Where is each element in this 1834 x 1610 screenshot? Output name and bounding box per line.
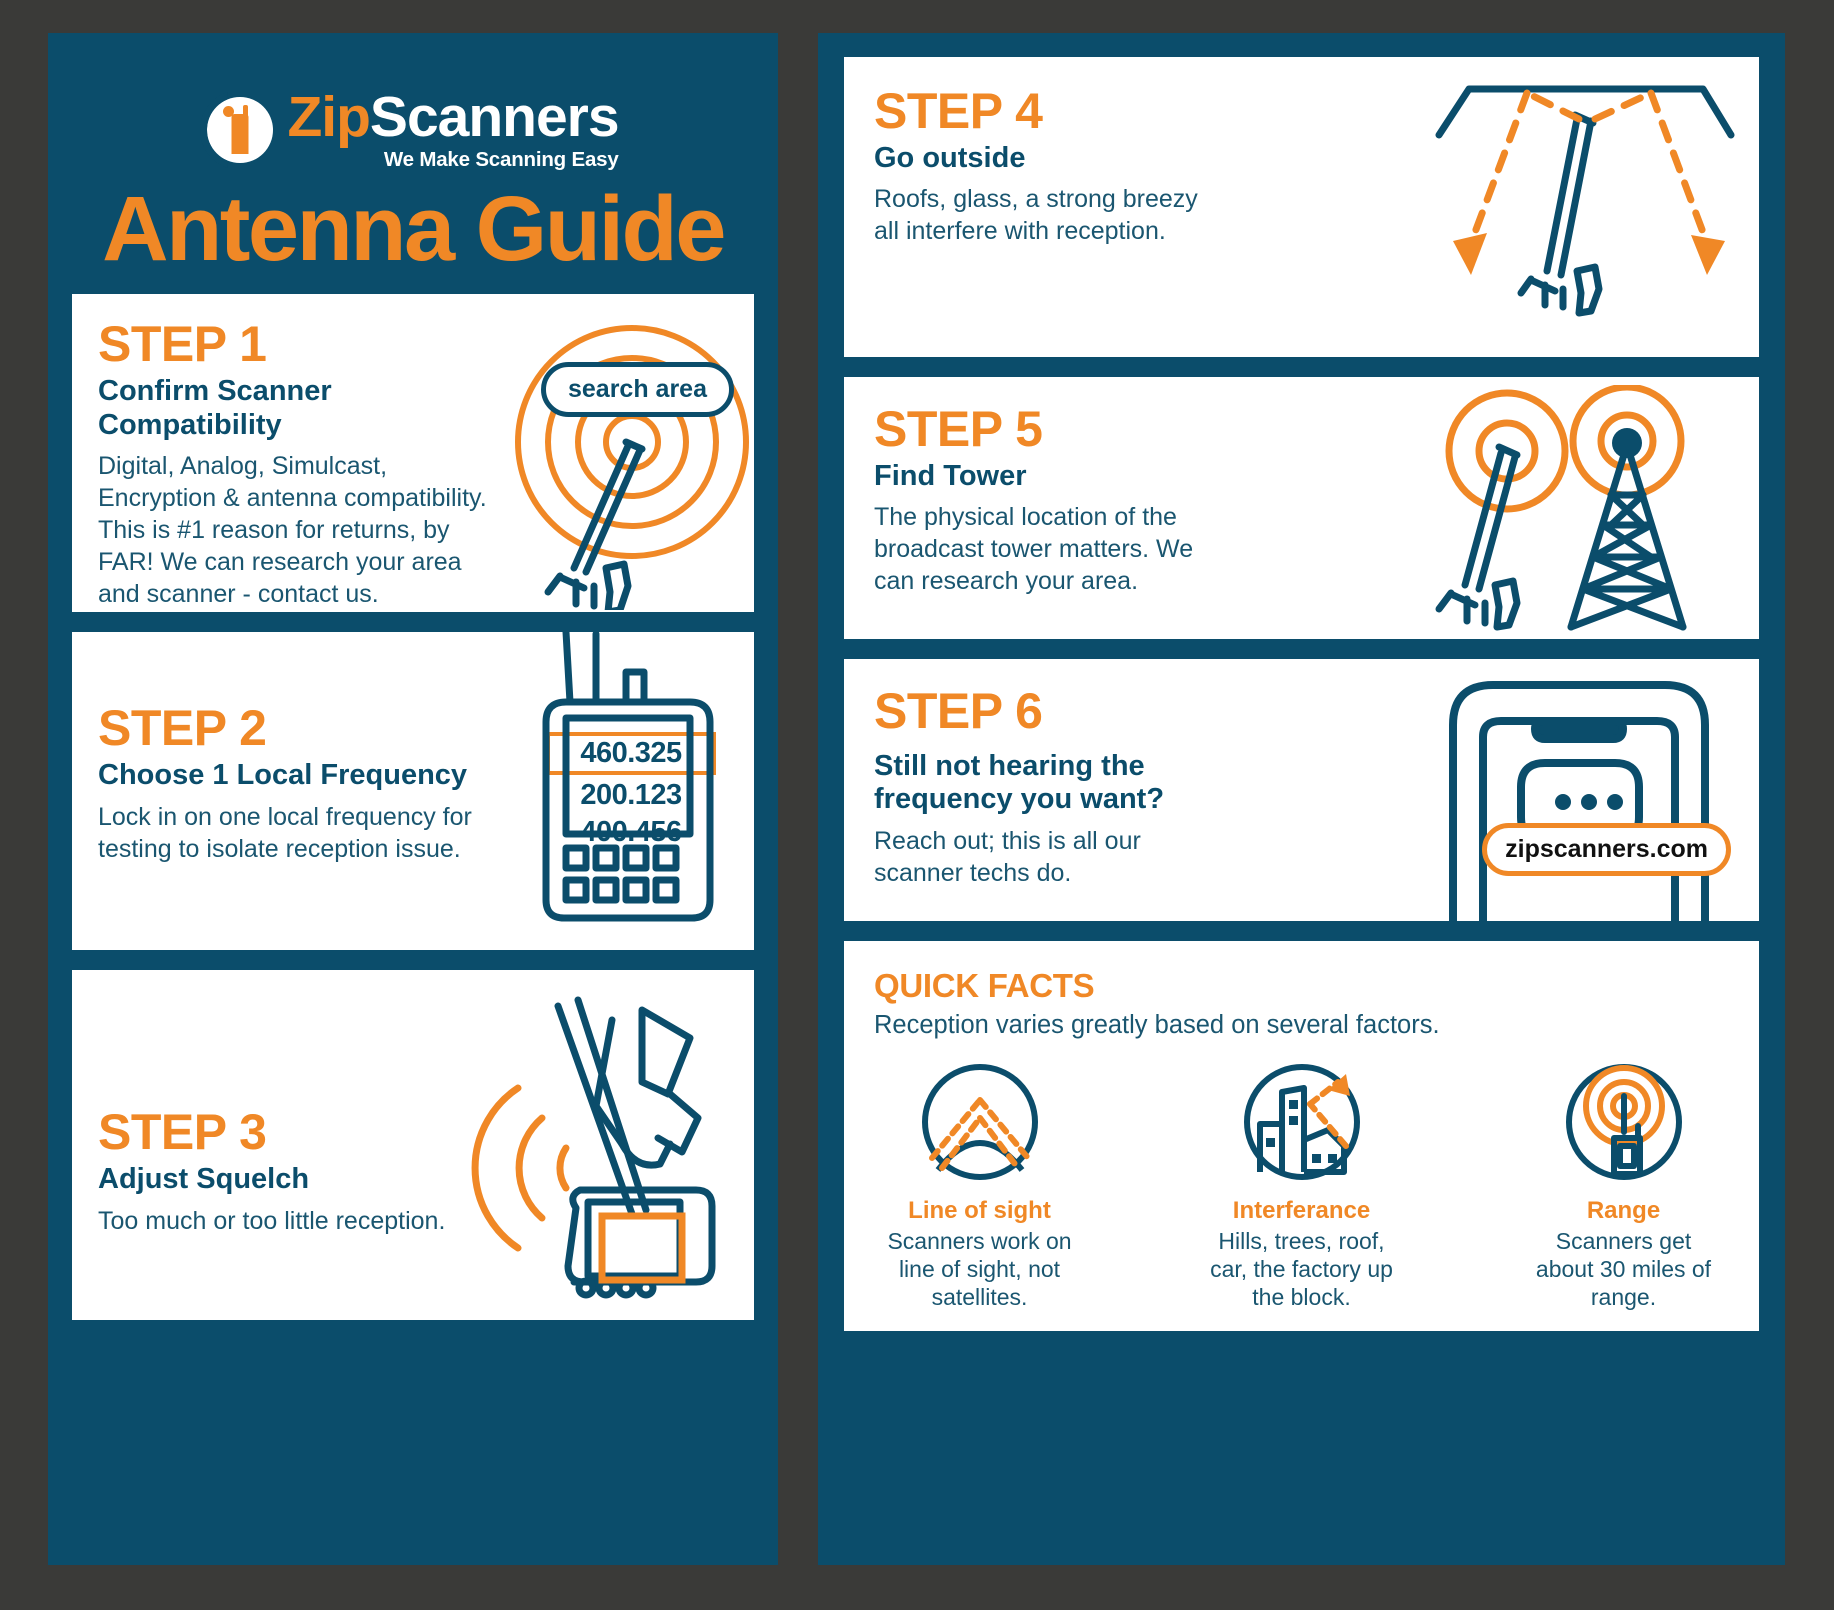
step-3-number: STEP 3 xyxy=(98,1106,498,1159)
brand-tagline: We Make Scanning Easy xyxy=(287,150,618,171)
step-1-number: STEP 1 xyxy=(98,318,498,371)
step-2-card: 460.325 200.123 400.456 STEP 2 Choose 1 … xyxy=(72,632,754,950)
step-1-body: Digital, Analog, Simulcast, Encryption &… xyxy=(98,450,498,610)
step-2-body: Lock in on one local frequency for testi… xyxy=(98,801,498,865)
quick-fact-label: Interferance xyxy=(1204,1197,1399,1225)
search-area-antenna-icon xyxy=(502,310,754,610)
step-4-heading: Go outside xyxy=(874,142,1204,176)
step-3-heading: Adjust Squelch xyxy=(98,1163,498,1197)
infographic-page: ZipScanners We Make Scanning Easy Antenn… xyxy=(0,0,1834,1610)
brand-name-zip: Zip xyxy=(287,85,369,149)
step-6-heading: Still not hearing the frequency you want… xyxy=(874,750,1204,818)
phone-chat-icon xyxy=(1439,671,1719,921)
quick-fact-text: Hills, trees, roof, car, the factory up … xyxy=(1204,1227,1399,1311)
step-4-card: STEP 4 Go outside Roofs, glass, a strong… xyxy=(844,57,1759,357)
website-url-badge[interactable]: zipscanners.com xyxy=(1482,823,1731,876)
quick-facts-grid: Line of sight Scanners work on line of s… xyxy=(874,1062,1729,1311)
brand-logo: ZipScanners We Make Scanning Easy xyxy=(48,33,778,171)
quick-fact-text: Scanners work on line of sight, not sate… xyxy=(882,1227,1077,1311)
step-2-heading: Choose 1 Local Frequency xyxy=(98,759,498,793)
search-area-label: search area xyxy=(541,362,734,417)
step-5-heading: Find Tower xyxy=(874,460,1214,494)
quick-fact-item: Line of sight Scanners work on line of s… xyxy=(882,1062,1077,1311)
page-title: Antenna Guide xyxy=(48,181,778,278)
step-3-body: Too much or too little reception. xyxy=(98,1205,498,1237)
step-6-card: zipscanners.com STEP 6 Still not hearing… xyxy=(844,659,1759,921)
quick-facts-title: QUICK FACTS xyxy=(874,967,1729,1005)
interference-buildings-icon xyxy=(1242,1062,1362,1182)
quick-facts-subtitle: Reception varies greatly based on severa… xyxy=(874,1011,1729,1040)
roof-signal-bounce-icon xyxy=(1419,75,1749,335)
handheld-scanner-icon xyxy=(530,632,730,924)
step-5-card: STEP 5 Find Tower The physical location … xyxy=(844,377,1759,639)
step-3-card: STEP 3 Adjust Squelch Too much or too li… xyxy=(72,970,754,1320)
brand-name-scanners: Scanners xyxy=(370,85,619,149)
step-6-number: STEP 6 xyxy=(874,685,1204,738)
step-5-body: The physical location of the broadcast t… xyxy=(874,501,1214,597)
quick-fact-item: Range Scanners get about 30 miles of ran… xyxy=(1526,1062,1721,1311)
step-1-card: search area STEP 1 Confirm Scanner Compa… xyxy=(72,294,754,612)
quick-fact-item: Interferance Hills, trees, roof, car, th… xyxy=(1204,1062,1399,1311)
step-2-number: STEP 2 xyxy=(98,702,498,755)
left-panel: ZipScanners We Make Scanning Easy Antenn… xyxy=(48,33,778,1565)
step-1-heading: Confirm Scanner Compatibility xyxy=(98,375,498,443)
brand-name: ZipScanners xyxy=(287,89,618,146)
step-4-body: Roofs, glass, a strong breezy all interf… xyxy=(874,183,1204,247)
zipscanners-radio-logo-icon xyxy=(207,97,273,163)
line-of-sight-hill-icon xyxy=(920,1062,1040,1182)
step-5-number: STEP 5 xyxy=(874,403,1214,456)
step-6-body: Reach out; this is all our scanner techs… xyxy=(874,825,1204,889)
right-panel: STEP 4 Go outside Roofs, glass, a strong… xyxy=(818,33,1785,1565)
range-radio-waves-icon xyxy=(1564,1062,1684,1182)
quick-facts-card: QUICK FACTS Reception varies greatly bas… xyxy=(844,941,1759,1331)
quick-fact-label: Range xyxy=(1526,1197,1721,1225)
quick-fact-label: Line of sight xyxy=(882,1197,1077,1225)
step-4-number: STEP 4 xyxy=(874,85,1204,138)
broadcast-tower-icon xyxy=(1395,385,1735,635)
quick-fact-text: Scanners get about 30 miles of range. xyxy=(1526,1227,1721,1311)
